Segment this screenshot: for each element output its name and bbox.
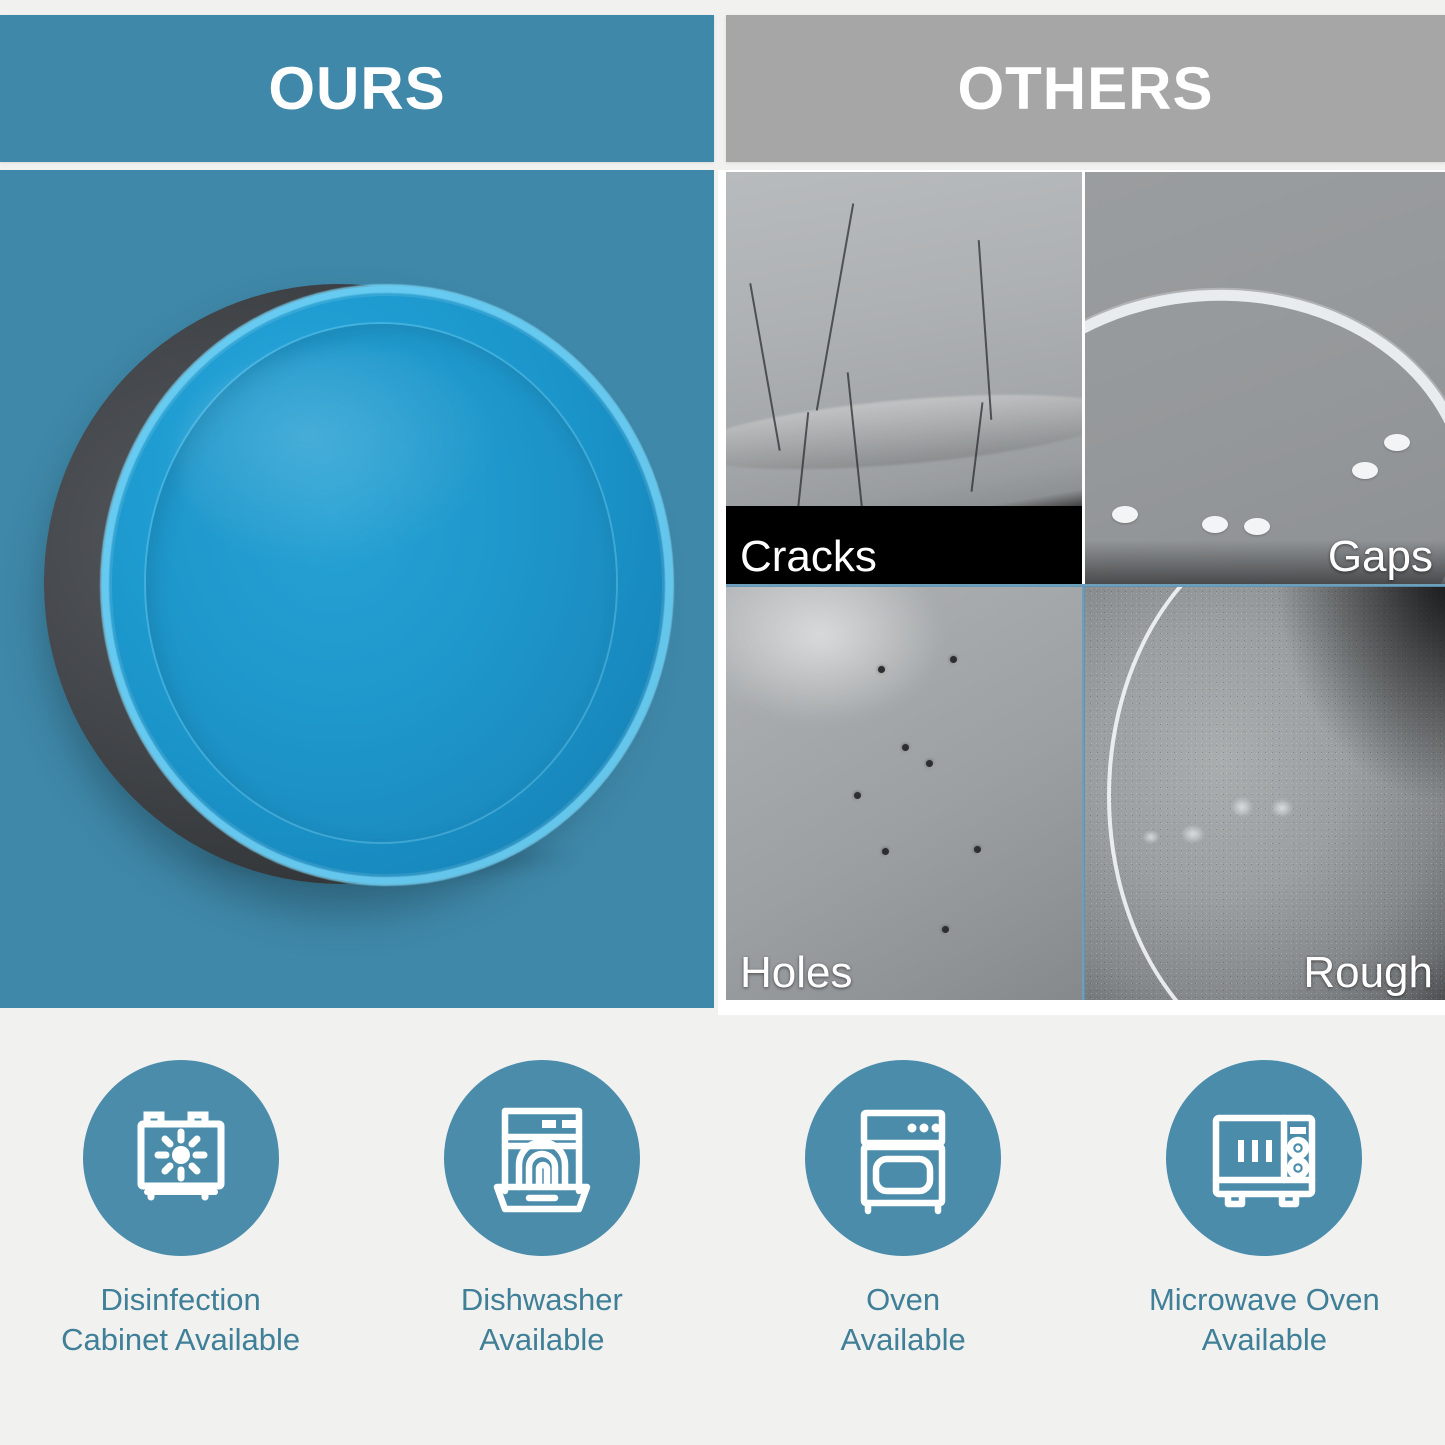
grid-divider-vertical-bottom (1082, 586, 1085, 1000)
rough-dark-corner (1275, 586, 1445, 806)
feature-icon-circle (1166, 1060, 1362, 1256)
feature-caption: Microwave Oven Available (1149, 1280, 1380, 1359)
grid-divider-vertical-top (1082, 172, 1085, 584)
feature-caption: Disinfection Cabinet Available (61, 1280, 300, 1359)
gaps-nub (1112, 506, 1138, 523)
pinhole (974, 846, 981, 853)
defect-label-rough: Rough (1303, 950, 1433, 996)
rough-blemish (1180, 824, 1206, 844)
feature-caption: Oven Available (841, 1280, 966, 1359)
feature-oven: Oven Available (723, 1060, 1084, 1359)
feature-dishwasher: Dishwasher Available (361, 1060, 722, 1359)
feature-row: Disinfection Cabinet Available (0, 1060, 1445, 1445)
feature-icon-circle (805, 1060, 1001, 1256)
defect-photo-cracks: Cracks (726, 172, 1082, 584)
pinhole (902, 744, 909, 751)
header-ours: OURS (0, 15, 714, 162)
pan-gloss-highlight (176, 348, 506, 568)
others-defect-grid: Cracks Gaps Holes (718, 170, 1445, 1015)
infographic-canvas: OURS OTHERS Cracks (0, 0, 1445, 1445)
pinhole (942, 926, 949, 933)
grid-divider-horizontal (726, 584, 1445, 587)
gaps-nub (1352, 462, 1378, 479)
gaps-nub (1244, 518, 1270, 535)
pinhole (878, 666, 885, 673)
pinhole (854, 792, 861, 799)
product-cake-pan-image (36, 278, 672, 898)
pinhole (882, 848, 889, 855)
header-ours-label: OURS (268, 54, 445, 123)
rough-blemish (1142, 830, 1160, 844)
defect-photo-holes: Holes (726, 586, 1082, 1000)
pinhole (950, 656, 957, 663)
feature-disinfection-cabinet: Disinfection Cabinet Available (0, 1060, 361, 1359)
defect-label-holes: Holes (740, 950, 853, 996)
feature-caption: Dishwasher Available (461, 1280, 623, 1359)
header-others-label: OTHERS (957, 54, 1213, 123)
rough-blemish (1270, 798, 1294, 818)
defect-photo-gaps: Gaps (1084, 172, 1445, 584)
feature-icon-circle (83, 1060, 279, 1256)
defect-label-gaps: Gaps (1328, 534, 1433, 580)
header-others: OTHERS (726, 15, 1445, 162)
rough-blemish (1230, 796, 1254, 818)
defect-photo-rough: Rough (1084, 586, 1445, 1000)
microwave-oven-icon (1202, 1096, 1326, 1220)
feature-microwave-oven: Microwave Oven Available (1084, 1060, 1445, 1359)
ours-product-panel (0, 170, 714, 1008)
disinfection-cabinet-icon (121, 1096, 241, 1221)
defect-label-cracks: Cracks (740, 534, 877, 580)
holes-sheen (726, 586, 946, 726)
dishwasher-icon (481, 1095, 603, 1222)
oven-icon (842, 1097, 964, 1219)
gaps-nub (1202, 516, 1228, 533)
gaps-nub (1384, 434, 1410, 451)
feature-icon-circle (444, 1060, 640, 1256)
pinhole (926, 760, 933, 767)
